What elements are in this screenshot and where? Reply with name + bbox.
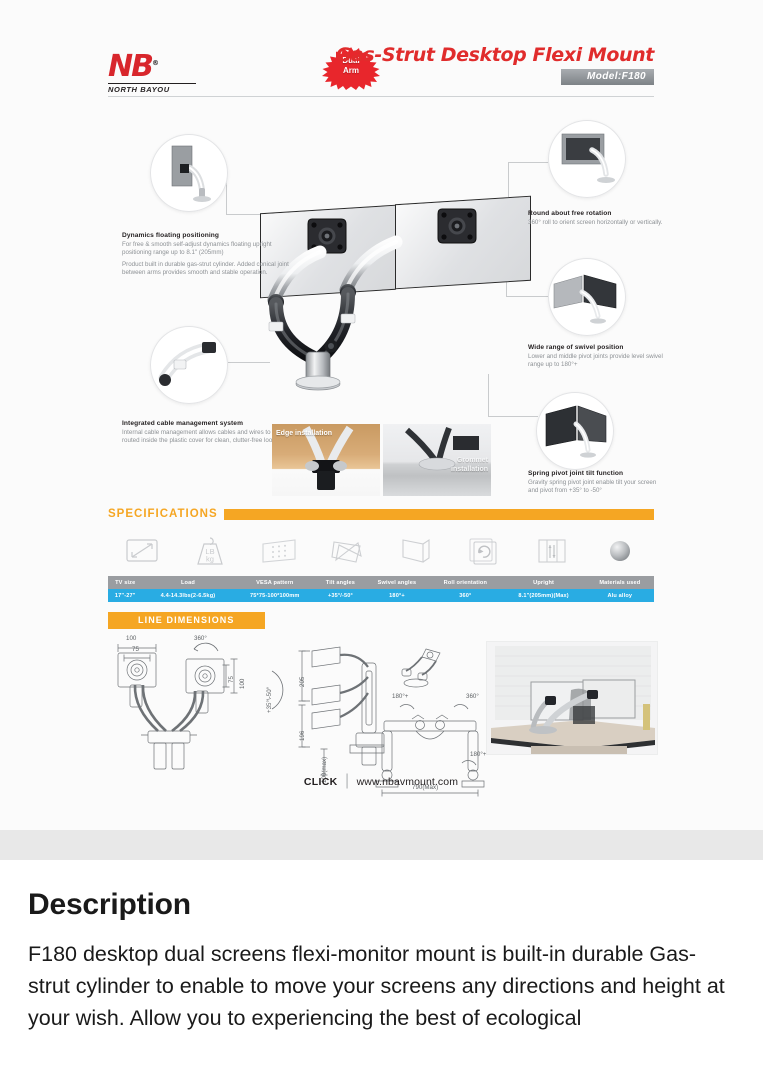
feature-title: Spring pivot joint tilt function — [528, 470, 668, 477]
specifications-heading: SPECIFICATIONS — [108, 508, 654, 520]
photo-edge-installation: Edge installation — [272, 424, 380, 496]
drawing-top-view: 180°+ 360° 180°+ 790(Max) — [366, 693, 494, 808]
spec-header-row: TV size Load VESA pattern Tilt angles Sw… — [108, 576, 654, 589]
spec-val-load: 4.4-14.3lbs(2-6.5kg) — [142, 589, 233, 602]
load-weight-icon: LBkg — [176, 528, 244, 574]
tv-size-icon — [108, 528, 176, 574]
dim-label-height-205: 205 — [299, 677, 306, 687]
swivel-angle-icon — [381, 528, 449, 574]
spec-val-tv-size: 17"-27" — [108, 589, 142, 602]
leader-line-2 — [508, 162, 550, 163]
feature-body: Gravity spring pivot joint enable tilt y… — [528, 479, 668, 496]
section-divider-band — [0, 830, 763, 860]
specifications-table: TV size Load VESA pattern Tilt angles Sw… — [108, 576, 654, 602]
website-url[interactable]: www.nbavmount.com — [357, 776, 459, 788]
feature-title: Dynamics floating positioning — [122, 232, 294, 239]
callout-circle-dynamics-floating — [150, 134, 228, 212]
spec-val-upright: 8.1"(205mm)(Max) — [502, 589, 586, 602]
spec-value-row: 17"-27" 4.4-14.3lbs(2-6.5kg) 75*75-100*1… — [108, 589, 654, 602]
vesa-pattern-icon — [245, 528, 313, 574]
spec-val-materials-used: Alu alloy — [586, 589, 654, 602]
feature-spring-pivot-joint-tilt-function: Spring pivot joint tilt function Gravity… — [528, 470, 668, 499]
drawing-front-view: 100 75 360° 75 100 — [108, 635, 248, 780]
spec-val-vesa-pattern: 75*75-100*100mm — [234, 589, 317, 602]
dim-label-swivel-left: 180°+ — [392, 693, 408, 700]
description-heading: Description — [28, 888, 735, 922]
feature-body: Lower and middle pivot joints provide le… — [528, 353, 668, 370]
callout-circle-tilt-function — [536, 392, 614, 470]
callout-circle-swivel-position — [548, 258, 626, 336]
spec-col-upright: Upright — [502, 576, 586, 589]
upright-travel-icon — [518, 528, 586, 574]
drawing-iso-view — [396, 645, 456, 694]
feature-title: Integrated cable management system — [122, 420, 294, 427]
specifications-title: SPECIFICATIONS — [108, 508, 218, 520]
brand-logo: NB® NORTH BAYOU — [108, 48, 208, 92]
specifications-section: SPECIFICATIONS LBkg — [108, 508, 654, 602]
dim-label-tilt: +35°\-50° — [266, 687, 273, 713]
registered-trademark-icon: ® — [152, 59, 157, 67]
spec-val-tilt-angles: +35°/-50° — [316, 589, 365, 602]
leader-line-5 — [488, 416, 538, 417]
product-infographic-sheet: NB® NORTH BAYOU Dual Arm Gas-Strut Deskt… — [0, 0, 763, 830]
header-divider — [108, 96, 654, 97]
tilt-angle-icon — [313, 528, 381, 574]
feature-title: Wide range of swivel position — [528, 344, 668, 351]
dim-label-roll-360: 360° — [194, 635, 207, 642]
feature-wide-range-of-swivel-position: Wide range of swivel position Lower and … — [528, 344, 668, 373]
spec-col-swivel-angles: Swivel angles — [365, 576, 429, 589]
click-label: CLICK — [304, 776, 338, 788]
dim-label-vesa-width: 100 — [126, 635, 136, 642]
specifications-title-bar — [224, 509, 654, 520]
dim-label-vesa-width-2: 100 — [239, 679, 246, 689]
dim-label-vesa-height-2: 75 — [228, 676, 235, 683]
feature-round-about-free-rotation: Round about free rotation 360° roll to o… — [528, 210, 668, 230]
description-section: Description F180 desktop dual screens fl… — [0, 860, 763, 1080]
spec-col-roll-orientation: Roll orientation — [429, 576, 501, 589]
dim-label-swivel-right: 360° — [466, 693, 479, 700]
spec-val-roll-orientation: 360° — [429, 589, 501, 602]
feature-integrated-cable-management-system: Integrated cable management system Inter… — [122, 420, 294, 449]
feature-body-2: Product built in durable gas-strut cylin… — [122, 261, 294, 278]
svg-text:kg: kg — [206, 555, 214, 564]
page-title: Gas-Strut Desktop Flexi Mount — [336, 44, 654, 66]
hero-composition: Dynamics floating positioning For free &… — [108, 104, 654, 504]
spec-col-load: Load — [142, 576, 233, 589]
leader-line-3 — [506, 296, 552, 297]
dim-label-height-196: 196 — [299, 731, 306, 741]
feature-body: For free & smooth self-adjust dynamics f… — [122, 241, 294, 258]
grommet-installation-label: Grommet installation — [422, 456, 488, 474]
sheet-header: NB® NORTH BAYOU Dual Arm Gas-Strut Deskt… — [108, 44, 654, 94]
dim-label-swivel-bottom: 180°+ — [470, 751, 486, 758]
sheet-title-group: Gas-Strut Desktop Flexi Mount Model:F180 — [336, 44, 654, 85]
footer-link-row[interactable]: CLICK | www.nbavmount.com — [108, 772, 654, 790]
logo-wordmark: NB® — [108, 48, 208, 82]
description-body: F180 desktop dual screens flexi-monitor … — [28, 938, 735, 1034]
dim-label-vesa-height: 75 — [132, 646, 139, 653]
callout-circle-cable-management — [150, 326, 228, 404]
feature-dynamics-floating-positioning: Dynamics floating positioning For free &… — [122, 232, 294, 281]
feature-body: Internal cable management allows cables … — [122, 429, 294, 446]
footer-separator: | — [345, 772, 349, 789]
edge-installation-label: Edge installation — [276, 429, 342, 438]
specification-icon-row: LBkg — [108, 528, 654, 574]
logo-company-name: NORTH BAYOU — [108, 83, 196, 94]
spec-col-tv-size: TV size — [108, 576, 142, 589]
callout-circle-free-rotation — [548, 120, 626, 198]
product-photo-desk-setup — [486, 641, 658, 755]
photo-grommet-installation: Grommet installation — [383, 424, 491, 496]
spec-col-tilt-angles: Tilt angles — [316, 576, 365, 589]
roll-orientation-icon — [449, 528, 517, 574]
spec-col-materials-used: Materials used — [586, 576, 654, 589]
line-dimensions-title: LINE DIMENSIONS — [108, 612, 265, 629]
feature-title: Round about free rotation — [528, 210, 668, 217]
material-sphere-icon — [586, 528, 654, 574]
feature-body: 360° roll to orient screen horizontally … — [528, 219, 668, 227]
model-badge: Model:F180 — [561, 69, 654, 85]
spec-col-vesa-pattern: VESA pattern — [234, 576, 317, 589]
spec-val-swivel-angles: 180°+ — [365, 589, 429, 602]
